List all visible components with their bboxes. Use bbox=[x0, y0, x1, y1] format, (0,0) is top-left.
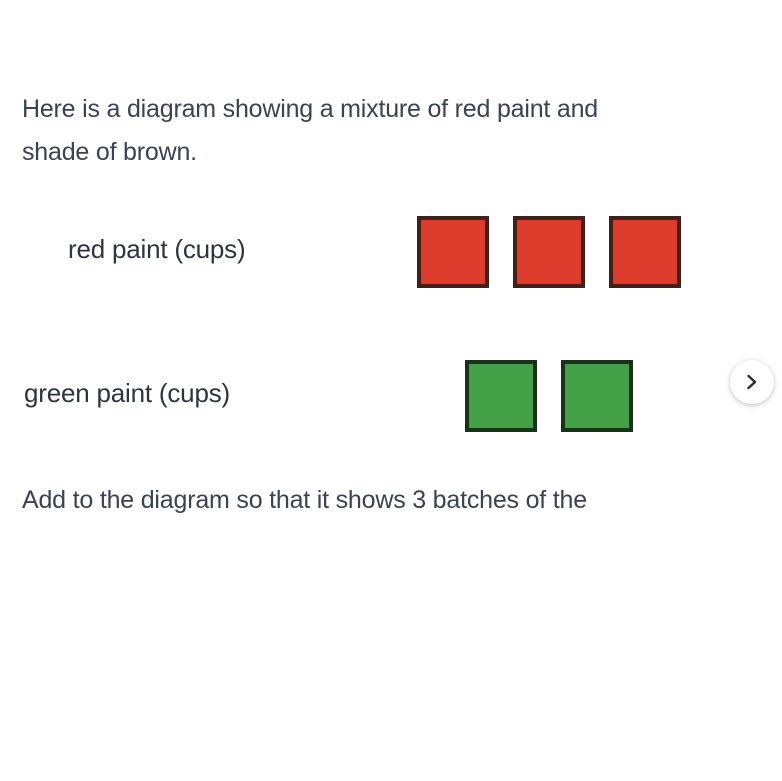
row-label-green-paint: green paint (cups) bbox=[24, 378, 230, 409]
green-paint-cell[interactable] bbox=[561, 360, 633, 432]
red-paint-cell[interactable] bbox=[513, 216, 585, 288]
row-label-red-paint: red paint (cups) bbox=[68, 234, 245, 265]
paint-mixture-diagram: red paint (cups) green paint (cups) bbox=[0, 200, 782, 488]
diagram-row-green-paint: green paint (cups) bbox=[0, 344, 782, 488]
green-paint-cell[interactable] bbox=[465, 360, 537, 432]
prompt-line-1: Here is a diagram showing a mixture of r… bbox=[22, 88, 782, 131]
diagram-row-red-paint: red paint (cups) bbox=[0, 200, 782, 344]
instruction-text: Add to the diagram so that it shows 3 ba… bbox=[22, 480, 782, 520]
red-paint-cell[interactable] bbox=[609, 216, 681, 288]
next-slide-button[interactable] bbox=[730, 360, 774, 404]
prompt-text: Here is a diagram showing a mixture of r… bbox=[22, 88, 782, 174]
prompt-line-2: shade of brown. bbox=[22, 131, 782, 174]
chevron-right-icon bbox=[744, 373, 760, 391]
instruction-line-1: Add to the diagram so that it shows 3 ba… bbox=[22, 480, 782, 520]
worksheet-screen: Here is a diagram showing a mixture of r… bbox=[0, 0, 782, 781]
red-paint-cell[interactable] bbox=[417, 216, 489, 288]
